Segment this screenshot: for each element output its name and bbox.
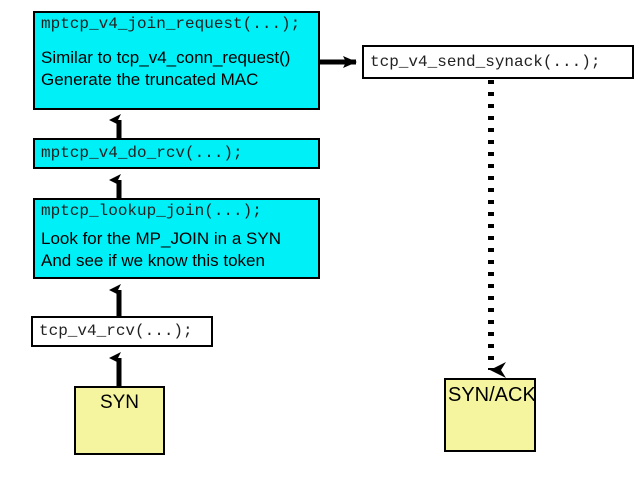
syn-packet-label: SYN — [76, 388, 163, 415]
send-synack-code: tcp_v4_send_synack(...); — [364, 47, 632, 77]
join-request-code: mptcp_v4_join_request(...); — [35, 13, 318, 35]
lookup-join-desc-line-2: And see if we know this token — [35, 250, 318, 272]
syn-ack-packet-label: SYN/ACK — [446, 380, 534, 407]
node-mptcp-v4-join-request[interactable]: mptcp_v4_join_request(...); Similar to t… — [33, 11, 320, 110]
node-tcp-v4-rcv[interactable]: tcp_v4_rcv(...); — [31, 316, 213, 347]
lookup-join-desc-line-1: Look for the MP_JOIN in a SYN — [35, 228, 318, 250]
packet-syn[interactable]: SYN — [74, 386, 165, 455]
node-mptcp-lookup-join[interactable]: mptcp_lookup_join(...); Look for the MP_… — [33, 198, 320, 279]
join-request-desc-line-2: Generate the truncated MAC — [35, 69, 318, 91]
join-request-desc-line-1: Similar to tcp_v4_conn_request() — [35, 47, 318, 69]
node-mptcp-v4-do-rcv[interactable]: mptcp_v4_do_rcv(...); — [33, 138, 320, 169]
packet-syn-ack[interactable]: SYN/ACK — [444, 378, 536, 452]
lookup-join-code: mptcp_lookup_join(...); — [35, 200, 318, 222]
join-request-spacer — [35, 35, 318, 47]
tcp-v4-rcv-code: tcp_v4_rcv(...); — [33, 318, 211, 345]
node-tcp-v4-send-synack[interactable]: tcp_v4_send_synack(...); — [362, 45, 634, 79]
diagram-canvas: mptcp_v4_join_request(...); Similar to t… — [0, 0, 641, 481]
do-rcv-code: mptcp_v4_do_rcv(...); — [35, 140, 318, 167]
